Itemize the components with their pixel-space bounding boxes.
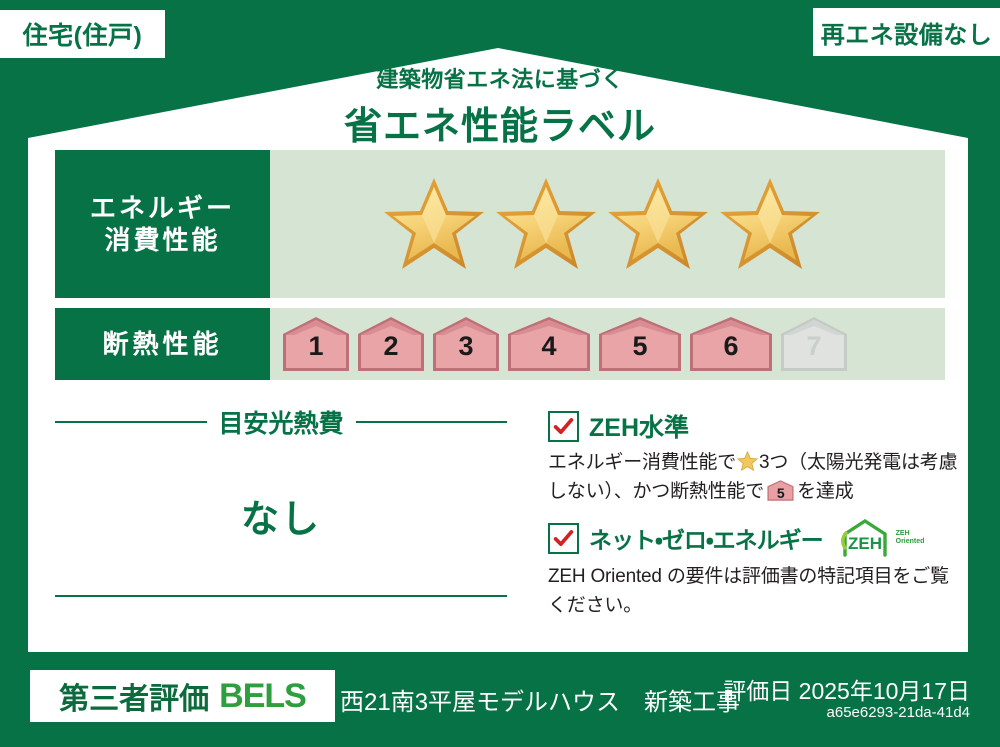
zeh-desc-part3: を達成	[797, 481, 853, 502]
insulation-badge-1: 1	[280, 314, 352, 374]
inline-insulation-badge-icon: 5	[767, 480, 794, 501]
insulation-badge-value: 2	[355, 331, 427, 362]
building-name: 西21南3平屋モデルハウス 新築工事	[340, 682, 740, 717]
insulation-rating-panel: 1234567	[270, 308, 945, 380]
bels-logo: 第三者評価 BELS	[30, 670, 335, 722]
zeh-desc-part1: エネルギー消費性能で	[548, 452, 736, 473]
zeh-logo-caption-line2: Oriented	[896, 538, 925, 546]
inline-badge-value: 5	[767, 483, 794, 501]
check-icon	[553, 416, 574, 437]
utility-cost-block: 目安光熱費 なし	[55, 404, 507, 597]
insulation-badge-2: 2	[355, 314, 427, 374]
insulation-badge-value: 3	[430, 331, 502, 362]
insulation-badge-group: 1234567	[270, 314, 850, 374]
footer-bar: 第三者評価 BELS 西21南3平屋モデルハウス 新築工事 評価日 2025年1…	[0, 652, 1000, 747]
insulation-label-cell: 断熱性能	[55, 308, 270, 380]
net-zero-energy-header: ネット・ゼロ・エネルギー ZEH ZEH Oriented	[548, 518, 960, 558]
star-icon	[718, 174, 822, 274]
zeh-standard-description: エネルギー消費性能で3つ（太陽光発電は考慮しない）、かつ断熱性能で5を達成	[548, 449, 960, 506]
star-rating-group	[270, 174, 822, 274]
heading-rule-right	[356, 421, 508, 423]
zeh-oriented-logo: ZEH ZEH Oriented	[837, 518, 925, 558]
insulation-badge-5: 5	[596, 314, 684, 374]
evaluation-date: 評価日 2025年10月17日	[723, 672, 970, 706]
insulation-badge-7: 7	[778, 314, 850, 374]
net-zero-energy-title: ネット・ゼロ・エネルギー	[589, 521, 823, 555]
energy-performance-label: 住宅(住戸) 再エネ設備なし 建築物省エネ法に基づく 省エネ性能ラベル エネルギ…	[0, 0, 1000, 747]
insulation-badge-6: 6	[687, 314, 775, 374]
energy-performance-label-cell: エネルギー 消費性能	[55, 150, 270, 298]
evaluation-id: a65e6293-21da-41d4	[827, 704, 970, 721]
utility-cost-heading-text: 目安光熱費	[207, 404, 356, 440]
zeh-house-logo-icon: ZEH	[837, 518, 893, 558]
zeh-standard-header: ZEH水準	[548, 408, 960, 444]
net-zero-energy-item: ネット・ゼロ・エネルギー ZEH ZEH Oriented ZEH Orient…	[548, 518, 960, 620]
bels-logo-jp: 第三者評価	[59, 674, 209, 718]
check-icon	[553, 528, 574, 549]
tag-renewable-energy: 再エネ設備なし	[813, 8, 1000, 56]
energy-label-line1: エネルギー	[90, 192, 235, 225]
insulation-performance-row: 断熱性能 1234567	[55, 308, 945, 380]
inline-star-icon	[737, 451, 758, 471]
star-icon	[606, 174, 710, 274]
insulation-badge-value: 5	[596, 331, 684, 362]
rating-rows: エネルギー 消費性能 断熱性能 1234567	[55, 150, 945, 390]
energy-rating-panel	[270, 150, 945, 298]
utility-cost-bottom-rule	[55, 595, 507, 597]
zeh-block: ZEH水準 エネルギー消費性能で3つ（太陽光発電は考慮しない）、かつ断熱性能で5…	[548, 408, 960, 632]
insulation-badge-3: 3	[430, 314, 502, 374]
energy-performance-row: エネルギー 消費性能	[55, 150, 945, 298]
insulation-badge-value: 6	[687, 331, 775, 362]
svg-text:ZEH: ZEH	[848, 534, 882, 553]
star-icon	[494, 174, 598, 274]
zeh-logo-caption-line1: ZEH	[896, 530, 925, 538]
tag-building-type: 住宅(住戸)	[0, 10, 165, 58]
zeh-standard-title: ZEH水準	[589, 408, 689, 444]
insulation-badge-value: 1	[280, 331, 352, 362]
insulation-badge-value: 4	[505, 331, 593, 362]
star-icon	[382, 174, 486, 274]
insulation-badge-value: 7	[778, 331, 850, 362]
net-zero-energy-checkbox[interactable]	[548, 523, 579, 554]
net-zero-energy-description: ZEH Oriented の要件は評価書の特記項目をご覧ください。	[548, 563, 960, 620]
bels-logo-en: BELS	[219, 677, 306, 716]
insulation-badge-4: 4	[505, 314, 593, 374]
utility-cost-heading: 目安光熱費	[55, 404, 507, 440]
page-title: 省エネ性能ラベル	[0, 95, 1000, 150]
zeh-standard-item: ZEH水準 エネルギー消費性能で3つ（太陽光発電は考慮しない）、かつ断熱性能で5…	[548, 408, 960, 506]
zeh-logo-caption: ZEH Oriented	[896, 530, 925, 546]
utility-cost-value: なし	[55, 488, 507, 543]
zeh-standard-checkbox[interactable]	[548, 411, 579, 442]
title-subtitle: 建築物省エネ法に基づく	[0, 62, 1000, 94]
heading-rule-left	[55, 421, 207, 423]
energy-label-line2: 消費性能	[104, 224, 220, 257]
